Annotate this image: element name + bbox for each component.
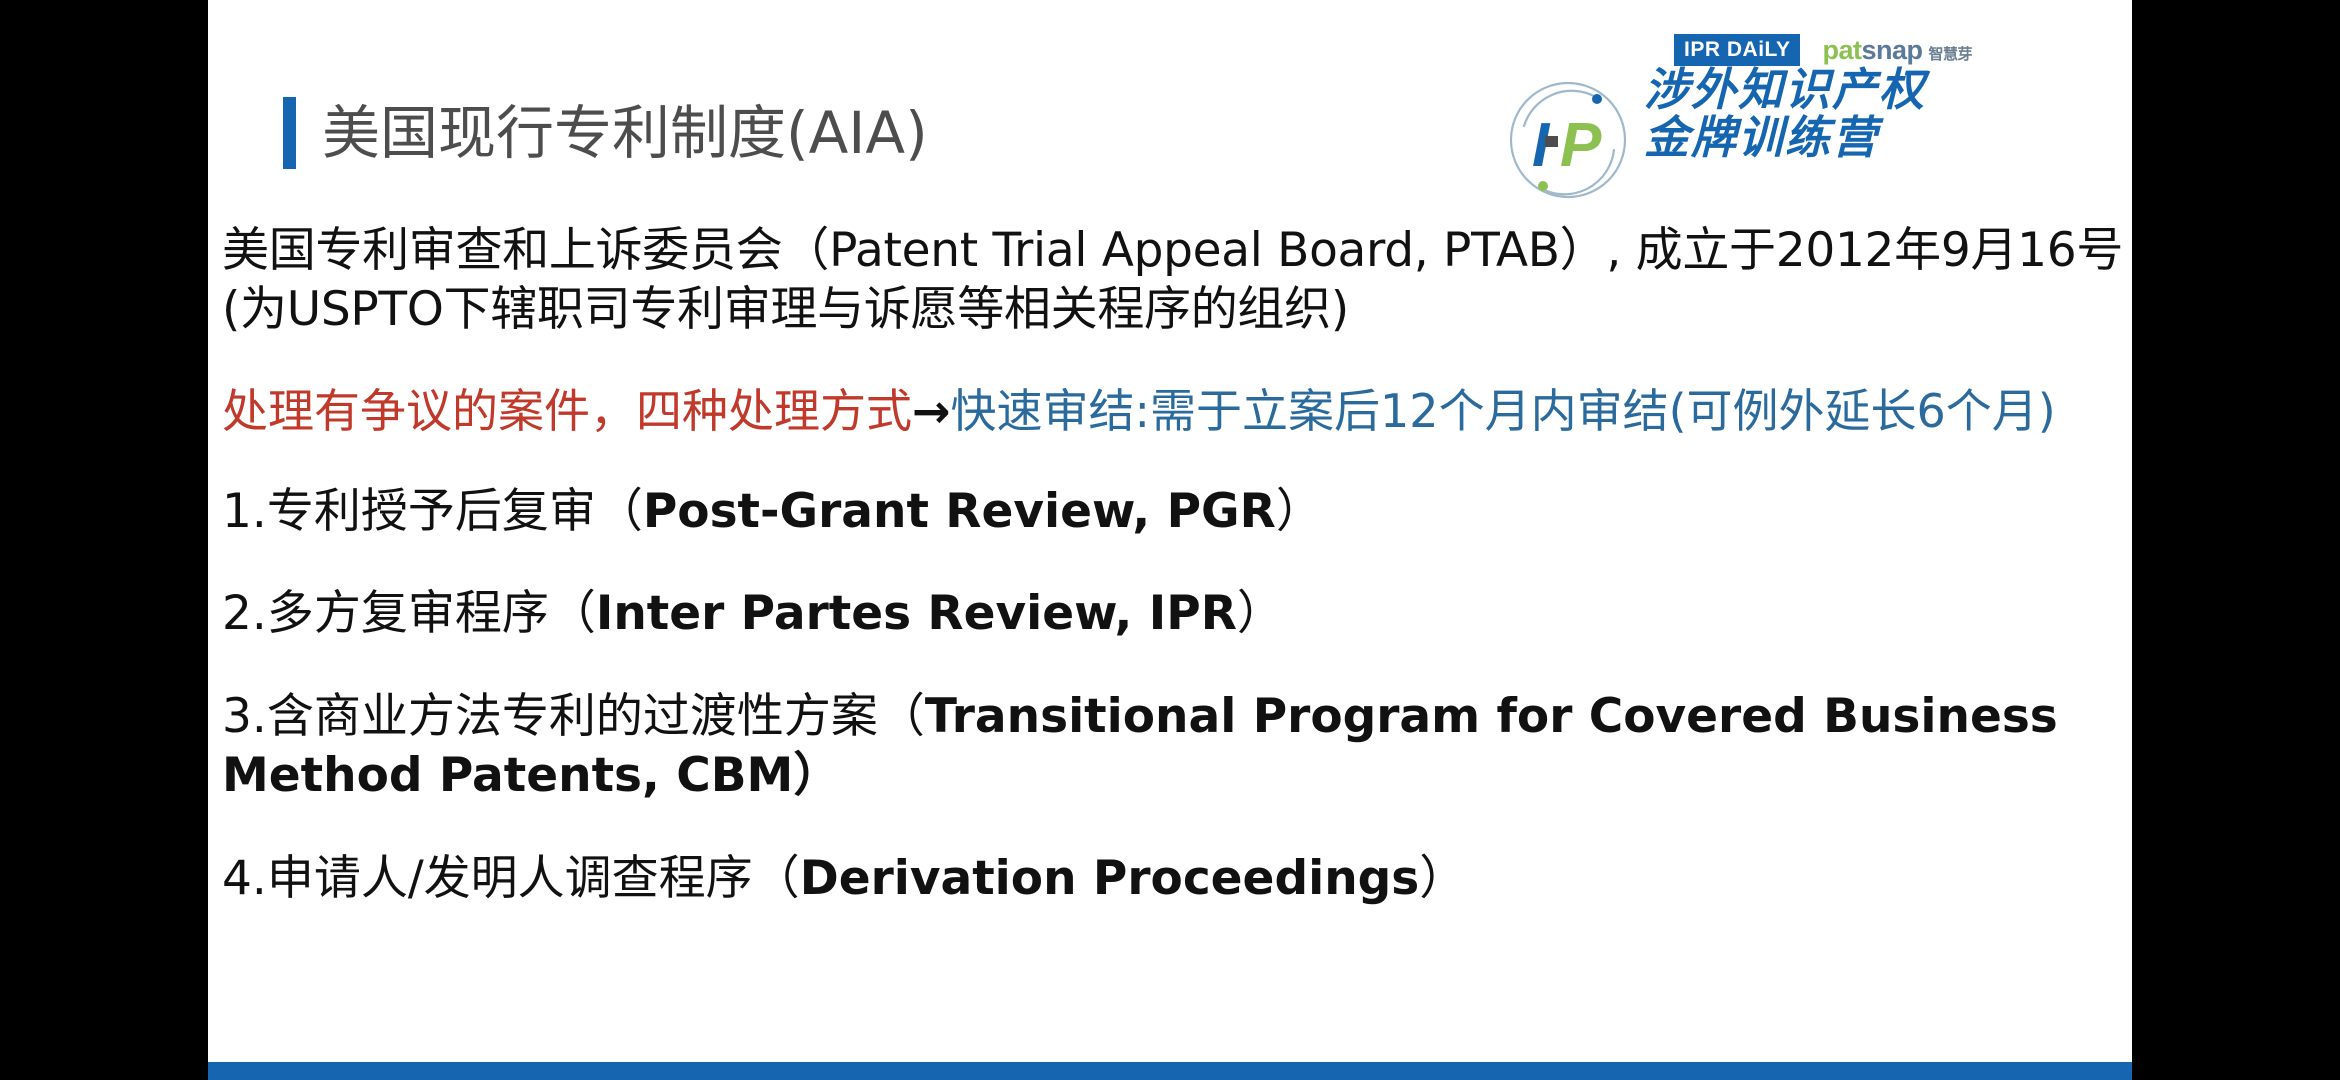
list-item-number: 4. bbox=[222, 851, 267, 906]
list-item: 1.专利授予后复审（Post-Grant Review, PGR） bbox=[222, 483, 2126, 542]
list-item-cn: 申请人/发明人调查程序（ bbox=[267, 851, 800, 906]
highlight-red-text: 处理有争议的案件，四种处理方式 bbox=[222, 384, 912, 438]
intro-line-1: 美国专利审查和上诉委员会（Patent Trial Appeal Board, … bbox=[222, 222, 2126, 281]
page-title: 美国现行专利制度(AIA) bbox=[322, 104, 928, 162]
brand-logo-cluster: IPR DAiLY patsnap智慧芽 I P 涉外知识产权 金牌训练营 bbox=[1502, 28, 2122, 218]
screen: IPR DAiLY patsnap智慧芽 I P 涉外知识产权 金牌训练营 美国 bbox=[0, 0, 2340, 1080]
highlight-blue-text: 快速审结:需于立案后12个月内审结(可例外延长6个月) bbox=[951, 384, 2056, 438]
list-item-close: ） bbox=[1237, 586, 1284, 641]
list-item-number: 2. bbox=[222, 586, 267, 641]
slide-canvas: IPR DAiLY patsnap智慧芽 I P 涉外知识产权 金牌训练营 美国 bbox=[208, 0, 2132, 1080]
training-camp-title: 涉外知识产权 金牌训练营 bbox=[1644, 66, 1926, 161]
camp-title-line2: 金牌训练营 bbox=[1644, 114, 1926, 162]
intro-paragraph: 美国专利审查和上诉委员会（Patent Trial Appeal Board, … bbox=[222, 222, 2126, 340]
heading-row: 美国现行专利制度(AIA) bbox=[283, 97, 928, 169]
list-item-cn: 含商业方法专利的过渡性方案（ bbox=[267, 689, 925, 744]
heading-accent-bar bbox=[283, 97, 296, 169]
list-item-en: Post-Grant Review, PGR bbox=[643, 484, 1276, 539]
list-item-number: 3. bbox=[222, 689, 267, 744]
list-item-close: ） bbox=[1419, 851, 1466, 906]
list-item: 3.含商业方法专利的过渡性方案（Transitional Program for… bbox=[222, 688, 2126, 806]
iprdaily-logo: IPR DAiLY bbox=[1674, 34, 1800, 66]
brand-row: IPR DAiLY patsnap智慧芽 bbox=[1674, 34, 1972, 66]
list-item: 2.多方复审程序（Inter Partes Review, IPR） bbox=[222, 585, 2126, 644]
list-item-en: Inter Partes Review, IPR bbox=[596, 586, 1237, 641]
bottom-accent-bar bbox=[208, 1062, 2132, 1080]
list-item-cn: 多方复审程序（ bbox=[267, 586, 596, 641]
list-item-number: 1. bbox=[222, 484, 267, 539]
intro-line-2: (为USPTO下辖职司专利审理与诉愿等相关程序的组织) bbox=[222, 281, 2126, 340]
patsnap-logo: patsnap智慧芽 bbox=[1822, 37, 1972, 64]
list-item-close: ） bbox=[1276, 484, 1323, 539]
list-item-close: ） bbox=[793, 748, 840, 803]
patsnap-pat-text: pat bbox=[1822, 35, 1861, 65]
ip-circle-logo-icon: I P bbox=[1502, 74, 1634, 206]
list-item: 4.申请人/发明人调查程序（Derivation Proceedings） bbox=[222, 850, 2126, 909]
list-item-cn: 专利授予后复审（ bbox=[267, 484, 643, 539]
patsnap-snap-text: snap bbox=[1861, 35, 1922, 65]
patsnap-chinese-text: 智慧芽 bbox=[1928, 46, 1972, 63]
slide-body: 美国专利审查和上诉委员会（Patent Trial Appeal Board, … bbox=[216, 222, 2132, 908]
camp-title-line1: 涉外知识产权 bbox=[1644, 66, 1926, 114]
list-item-en: Derivation Proceedings bbox=[800, 851, 1420, 906]
highlight-line: 处理有争议的案件，四种处理方式→快速审结:需于立案后12个月内审结(可例外延长6… bbox=[222, 384, 2126, 439]
svg-text:P: P bbox=[1560, 111, 1602, 180]
highlight-arrow-icon: → bbox=[912, 384, 951, 438]
